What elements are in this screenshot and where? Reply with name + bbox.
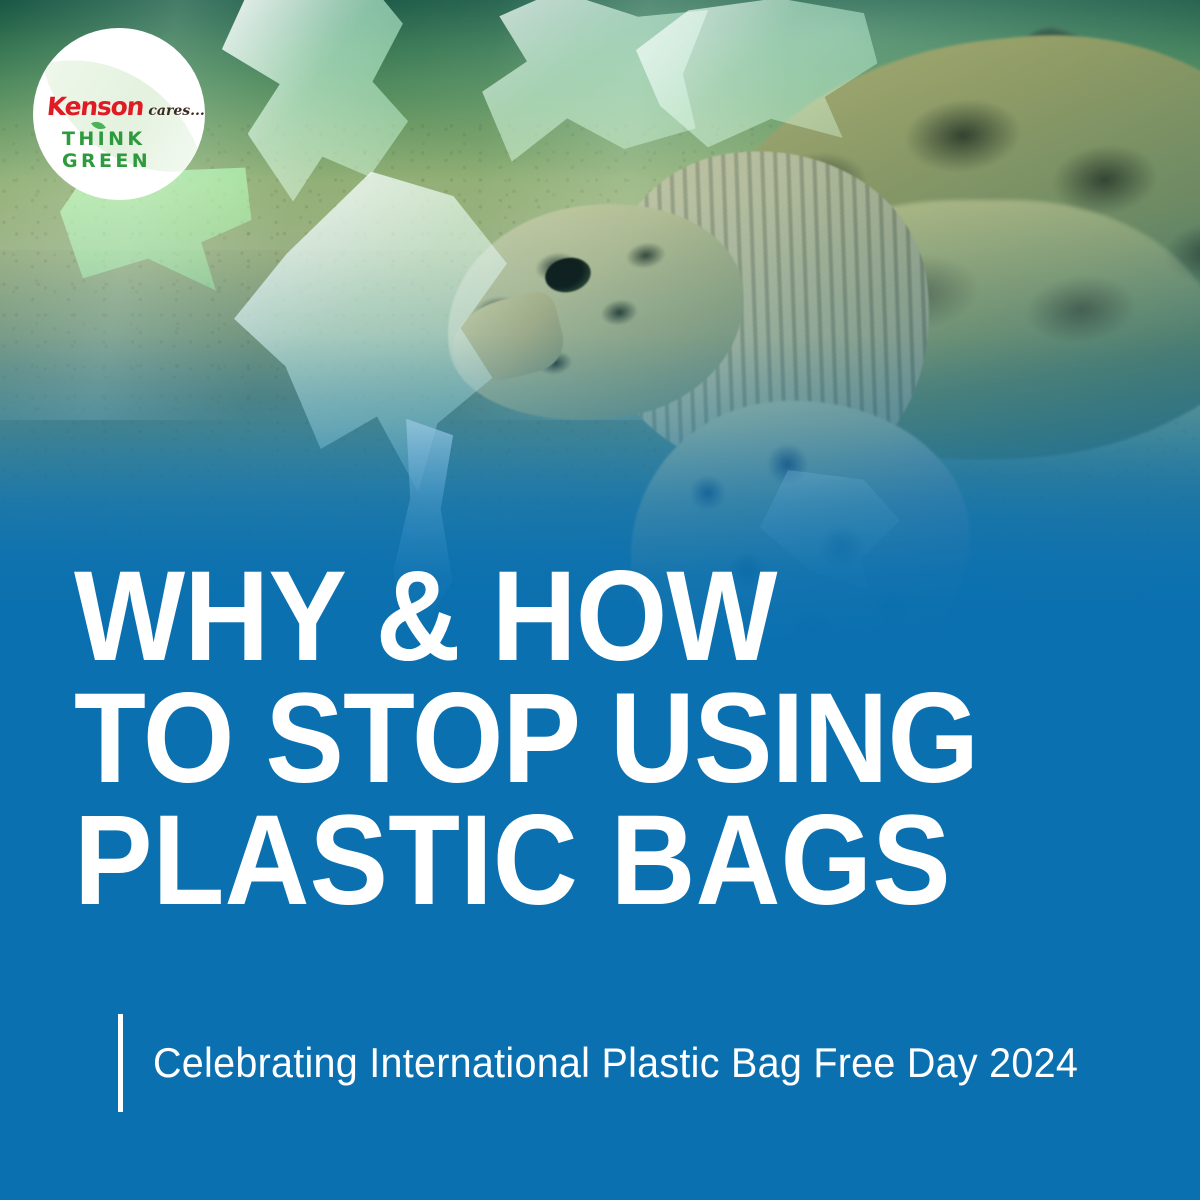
headline-line-3: PLASTIC BAGS	[74, 800, 1049, 922]
poster-canvas: Kenson cares...... THINK GREEN WHY & HOW…	[0, 0, 1200, 1200]
subtitle-text: Celebrating International Plastic Bag Fr…	[153, 1039, 1078, 1087]
headline-line-2: TO STOP USING	[74, 678, 1049, 800]
page-title: WHY & HOW TO STOP USING PLASTIC BAGS	[74, 556, 1134, 922]
logo-text-group: Kenson cares...... THINK GREEN	[33, 28, 205, 200]
logo-tagline-bold: THINK GREEN	[62, 128, 205, 172]
logo-brand-name: Kenson	[46, 94, 145, 119]
headline-line-1: WHY & HOW	[74, 556, 1049, 678]
subtitle-block: Celebrating International Plastic Bag Fr…	[118, 1014, 1137, 1112]
logo-brand-row: Kenson cares......	[47, 94, 205, 119]
subtitle-divider-rule	[118, 1014, 123, 1112]
brand-logo-badge[interactable]: Kenson cares...... THINK GREEN	[33, 28, 205, 200]
logo-tagline-script: cares......	[148, 103, 205, 119]
